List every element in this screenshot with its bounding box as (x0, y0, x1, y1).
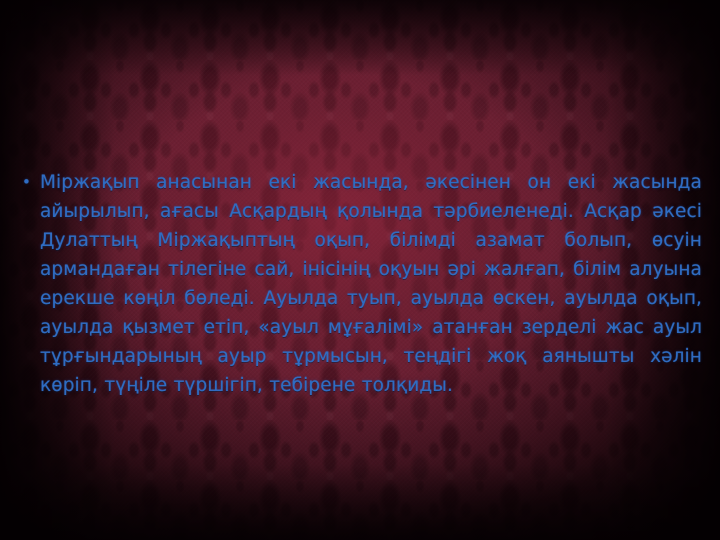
body-text-placeholder[interactable]: • Міржақып анасынан екі жасында, әкесіне… (18, 168, 702, 400)
list-item[interactable]: • Міржақып анасынан екі жасында, әкесіне… (18, 168, 702, 400)
slide-content: • Міржақып анасынан екі жасында, әкесіне… (0, 0, 720, 540)
presentation-slide: • Міржақып анасынан екі жасында, әкесіне… (0, 0, 720, 540)
bullet-point-icon: • (22, 168, 36, 197)
bullet-paragraph-text: Міржақып анасынан екі жасында, әкесінен … (40, 168, 702, 400)
bullet-list: • Міржақып анасынан екі жасында, әкесіне… (18, 168, 702, 400)
